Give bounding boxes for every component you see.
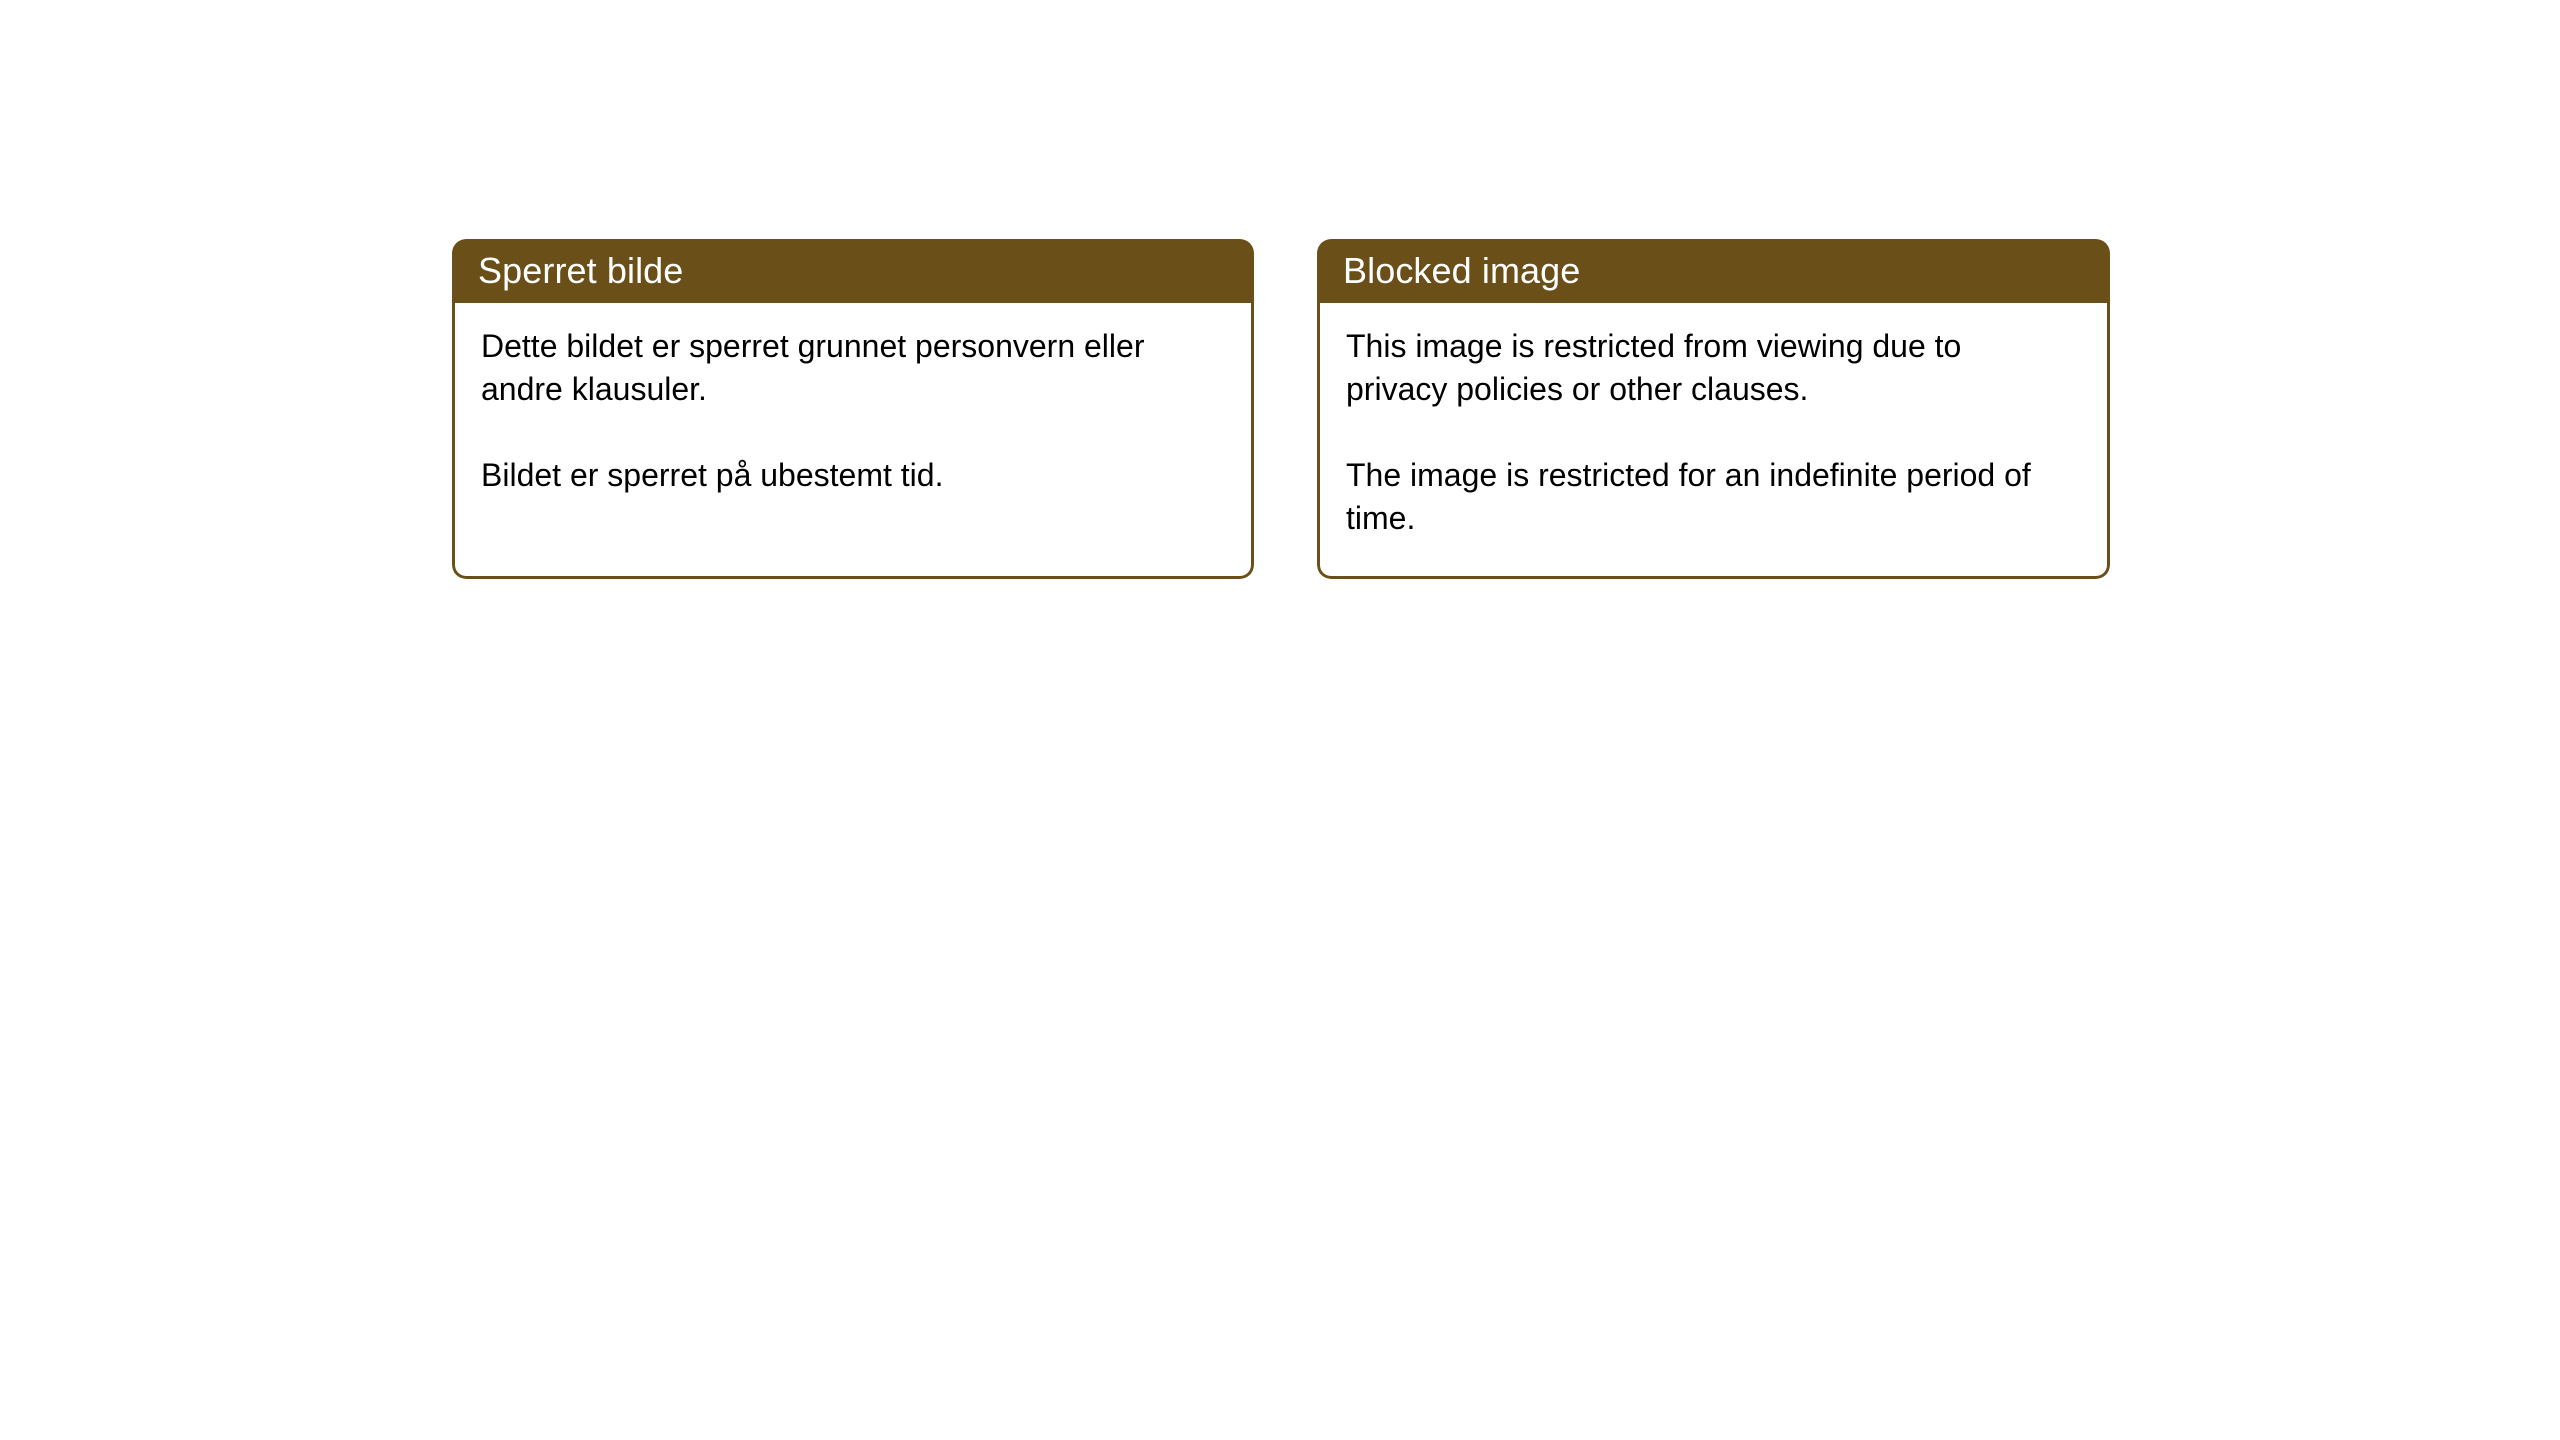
card-body-no: Dette bildet er sperret grunnet personve… — [452, 303, 1254, 579]
blocked-image-card-no: Sperret bilde Dette bildet er sperret gr… — [452, 239, 1254, 579]
card-title-no: Sperret bilde — [478, 251, 683, 291]
card-title-en: Blocked image — [1343, 251, 1580, 291]
card-paragraph-en-1: This image is restricted from viewing du… — [1346, 325, 2036, 411]
card-body-en: This image is restricted from viewing du… — [1317, 303, 2110, 579]
blocked-image-card-en: Blocked image This image is restricted f… — [1317, 239, 2110, 579]
card-header-en: Blocked image — [1317, 239, 2110, 303]
card-header-no: Sperret bilde — [452, 239, 1254, 303]
card-paragraph-no-2: Bildet er sperret på ubestemt tid. — [481, 454, 1171, 497]
card-paragraph-no-1: Dette bildet er sperret grunnet personve… — [481, 325, 1171, 411]
card-paragraph-en-2: The image is restricted for an indefinit… — [1346, 454, 2036, 540]
page-canvas: Sperret bilde Dette bildet er sperret gr… — [0, 0, 2560, 1440]
